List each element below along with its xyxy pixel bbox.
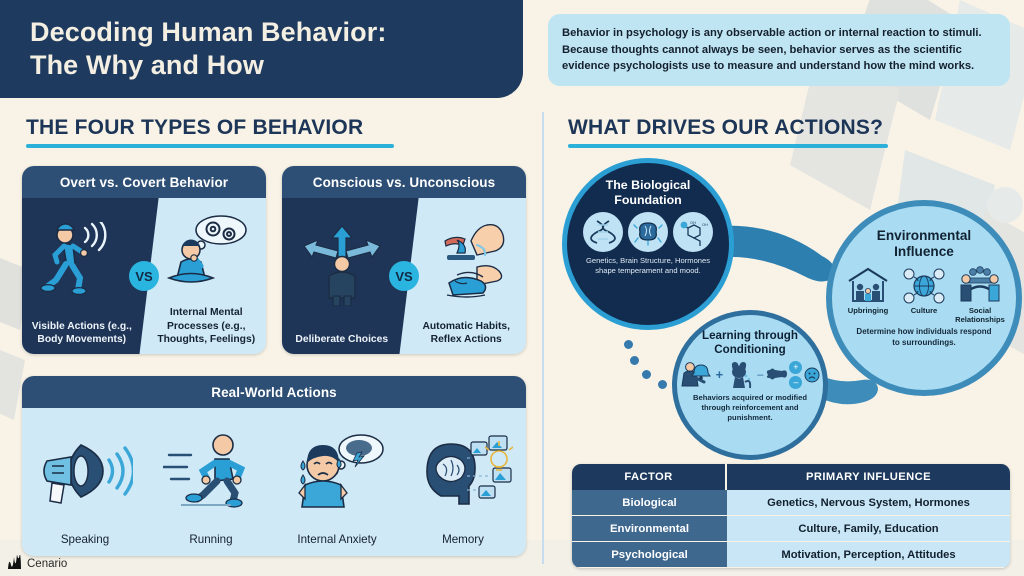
card-left-pane: Deliberate Choices xyxy=(282,198,402,354)
table-header-row: FACTOR PRIMARY INFLUENCE xyxy=(572,464,1010,490)
connector-dot xyxy=(624,340,633,349)
title-line-2: The Why and How xyxy=(30,49,386,82)
card-left-pane: Visible Actions (e.g., Body Movements) xyxy=(22,198,142,354)
card-right-pane: Internal Mental Processes (e.g., Thought… xyxy=(146,198,266,354)
thinking-person-gears-icon xyxy=(146,198,266,306)
table-header-influence: PRIMARY INFLUENCE xyxy=(727,464,1010,490)
plus-badge: + xyxy=(789,361,802,374)
env-item: Social Relationships xyxy=(954,265,1006,324)
connector-dot xyxy=(630,356,639,365)
driver-title-line-2: Conditioning xyxy=(702,343,798,357)
real-world-label: Running xyxy=(189,533,232,546)
person-bell-icon xyxy=(680,360,714,390)
table-cell-influence: Motivation, Perception, Attitudes xyxy=(727,542,1010,568)
people-handshake-icon xyxy=(954,265,1006,305)
real-world-label: Speaking xyxy=(61,533,109,546)
card-left-caption: Deliberate Choices xyxy=(291,333,392,346)
right-section-heading-text: WHAT DRIVES OUR ACTIONS? xyxy=(568,116,888,140)
behavior-card-conscious-unconscious: Conscious vs. Unconscious Deliberate Cho… xyxy=(282,166,526,354)
column-divider xyxy=(542,112,544,564)
env-item-label: Social Relationships xyxy=(954,306,1006,324)
driver-title: The Biological Foundation xyxy=(606,178,691,207)
real-world-title: Real-World Actions xyxy=(22,376,526,408)
driver-title: Learning through Conditioning xyxy=(702,329,798,357)
env-item: Upbringing xyxy=(842,265,894,315)
left-section-heading-text: THE FOUR TYPES OF BEHAVIOR xyxy=(26,116,394,140)
running-person-speaking-icon xyxy=(22,198,142,320)
card-right-caption: Automatic Habits, Reflex Actions xyxy=(406,320,526,346)
page-title: Decoding Human Behavior: The Why and How xyxy=(0,16,386,82)
real-world-label: Memory xyxy=(442,533,484,546)
card-title: Conscious vs. Unconscious xyxy=(282,166,526,198)
driver-caption: Genetics, Brain Structure, Hormones shap… xyxy=(567,256,729,276)
driver-title-line-1: The Biological xyxy=(606,178,691,193)
svg-text:OH: OH xyxy=(690,220,696,225)
real-world-item: Internal Anxiety xyxy=(274,408,400,556)
real-world-items: Speaking xyxy=(22,408,526,556)
minus-sign: – xyxy=(757,369,763,381)
driver-circle-conditioning: Learning through Conditioning + – xyxy=(672,310,828,460)
card-right-caption: Internal Mental Processes (e.g., Thought… xyxy=(146,306,266,346)
driver-caption: Determine how individuals respond to sur… xyxy=(832,327,1016,349)
card-body: Visible Actions (e.g., Body Movements) V… xyxy=(22,198,266,354)
running-person-icon xyxy=(163,408,259,533)
dna-helix-icon xyxy=(583,212,623,252)
driver-title: Environmental Influence xyxy=(877,228,971,261)
driver-icon-row: Upbringing Culture xyxy=(842,265,1006,324)
behavior-card-overt-covert: Overt vs. Covert Behavior xyxy=(22,166,266,354)
table-row: Psychological Motivation, Perception, At… xyxy=(572,542,1010,568)
table-cell-influence: Genetics, Nervous System, Hormones xyxy=(727,490,1010,516)
watermark: Cenario xyxy=(6,555,67,572)
brain-icon xyxy=(628,212,668,252)
table-cell-factor: Biological xyxy=(572,490,727,516)
intro-panel: Behavior in psychology is any observable… xyxy=(548,14,1010,86)
title-line-1: Decoding Human Behavior: xyxy=(30,16,386,49)
factors-table: FACTOR PRIMARY INFLUENCE Biological Gene… xyxy=(572,464,1010,568)
intro-text: Behavior in psychology is any observable… xyxy=(562,25,996,75)
person-three-arrows-icon xyxy=(282,198,402,333)
family-house-icon xyxy=(845,265,891,305)
connector-dot xyxy=(658,380,667,389)
connector-dot xyxy=(642,370,651,379)
table-cell-influence: Culture, Family, Education xyxy=(727,516,1010,542)
sad-face-minus-icon xyxy=(804,367,820,383)
card-left-caption: Visible Actions (e.g., Body Movements) xyxy=(22,320,142,346)
env-item-label: Culture xyxy=(911,306,938,315)
driver-icon-row: OH OH xyxy=(583,212,713,252)
driver-title-line-2: Influence xyxy=(877,244,971,260)
table-row: Environmental Culture, Family, Education xyxy=(572,516,1010,542)
title-card: Decoding Human Behavior: The Why and How xyxy=(0,0,523,98)
reinforcement-symbols: + – xyxy=(789,361,802,389)
left-section-heading: THE FOUR TYPES OF BEHAVIOR xyxy=(26,116,394,148)
anxious-face-storm-cloud-icon xyxy=(287,408,387,533)
driver-title-line-1: Environmental xyxy=(877,228,971,244)
table-row: Biological Genetics, Nervous System, Hor… xyxy=(572,490,1010,516)
driver-title-line-1: Learning through xyxy=(702,329,798,343)
bone-plus-icon xyxy=(765,366,787,384)
plus-sign: + xyxy=(716,367,724,382)
env-item-label: Upbringing xyxy=(848,306,889,315)
env-item: Culture xyxy=(898,265,950,315)
real-world-item: Speaking xyxy=(22,408,148,556)
globe-network-icon xyxy=(901,265,947,305)
megaphone-icon xyxy=(37,408,133,533)
table-header-factor: FACTOR xyxy=(572,464,727,490)
left-heading-underline xyxy=(26,144,394,148)
table-cell-factor: Psychological xyxy=(572,542,727,568)
hand-flame-reflex-icon xyxy=(406,198,526,320)
right-heading-underline xyxy=(568,144,888,148)
right-section-heading: WHAT DRIVES OUR ACTIONS? xyxy=(568,116,888,148)
real-world-label: Internal Anxiety xyxy=(297,533,376,546)
dog-icon xyxy=(725,360,755,390)
driver-circle-environmental: Environmental Influence Upbringing xyxy=(826,200,1022,396)
driver-caption: Behaviors acquired or modified through r… xyxy=(677,393,823,423)
molecule-icon: OH OH xyxy=(673,212,713,252)
table-cell-factor: Environmental xyxy=(572,516,727,542)
real-world-item: Memory xyxy=(400,408,526,556)
pulse-wave-logo-icon xyxy=(6,555,23,572)
minus-badge: – xyxy=(789,376,802,389)
svg-text:OH: OH xyxy=(702,222,708,227)
driver-circle-biological: The Biological Foundation xyxy=(562,158,734,330)
card-body: Deliberate Choices VS Automatic Habits xyxy=(282,198,526,354)
card-right-pane: Automatic Habits, Reflex Actions xyxy=(406,198,526,354)
drivers-diagram: The Biological Foundation xyxy=(548,152,1024,452)
vs-badge: VS xyxy=(389,261,419,291)
card-title: Overt vs. Covert Behavior xyxy=(22,166,266,198)
driver-icon-row: + – + – xyxy=(680,360,821,390)
vs-badge: VS xyxy=(129,261,159,291)
head-brain-memory-icon xyxy=(413,408,513,533)
real-world-item: Running xyxy=(148,408,274,556)
real-world-actions-panel: Real-World Actions Speaking xyxy=(22,376,526,556)
watermark-label: Cenario xyxy=(27,558,67,570)
driver-title-line-2: Foundation xyxy=(606,193,691,208)
